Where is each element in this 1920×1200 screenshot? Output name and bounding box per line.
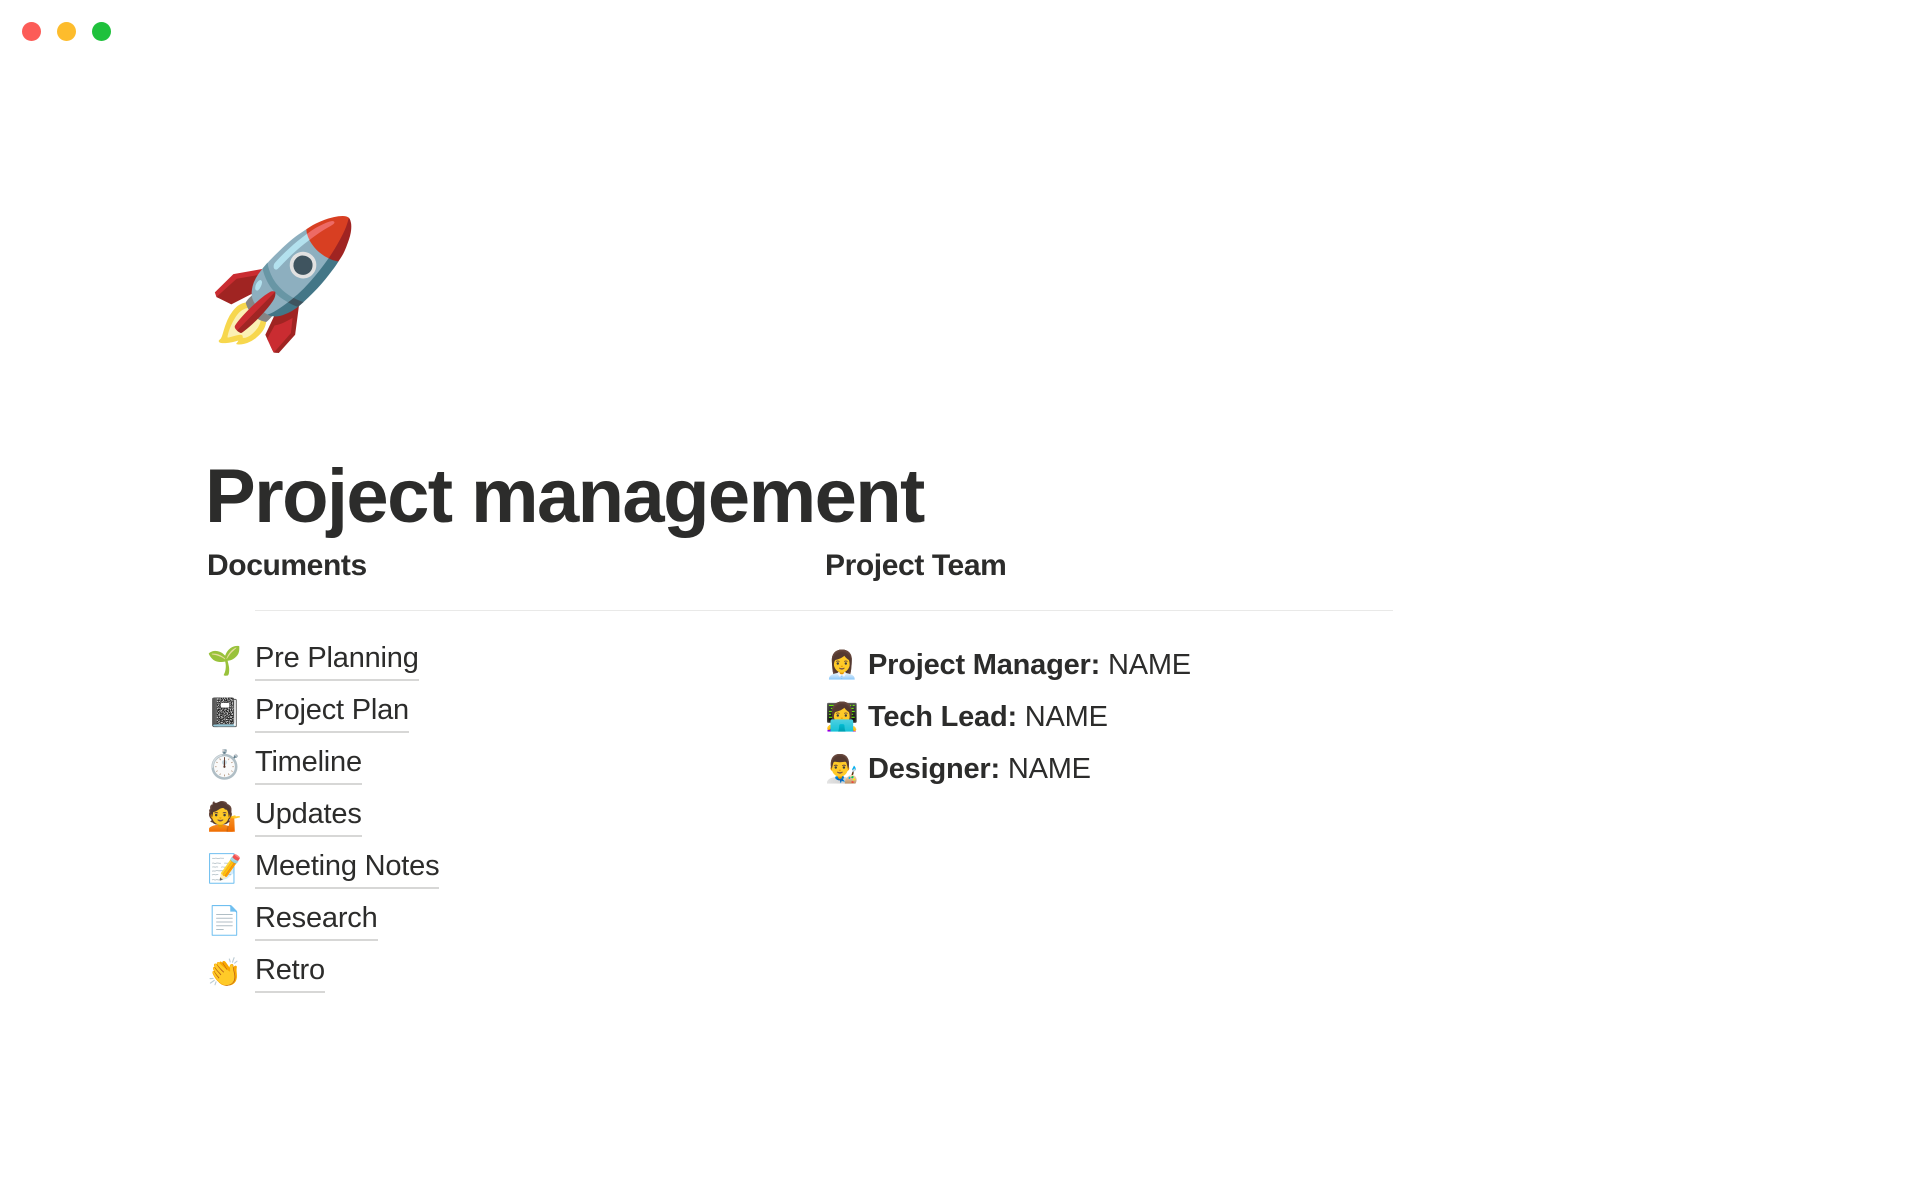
list-item[interactable]: 📄 Research bbox=[205, 895, 745, 947]
team-column: Project Team 👩‍💼 Project Manager: NAME 👩… bbox=[823, 548, 1393, 999]
content-columns: Documents 🌱 Pre Planning 📓 Project Plan … bbox=[205, 548, 1405, 999]
list-item: 👩‍💼 Project Manager: NAME bbox=[823, 639, 1393, 691]
list-item[interactable]: 💁 Updates bbox=[205, 791, 745, 843]
list-item[interactable]: 👏 Retro bbox=[205, 947, 745, 999]
document-page: 🚀 Project management Documents 🌱 Pre Pla… bbox=[0, 0, 1920, 1200]
seedling-icon: 🌱 bbox=[207, 647, 241, 675]
list-item: 👩‍💻 Tech Lead: NAME bbox=[823, 691, 1393, 743]
team-member-name: NAME bbox=[1025, 701, 1108, 733]
documents-column: Documents 🌱 Pre Planning 📓 Project Plan … bbox=[205, 548, 745, 999]
page-title[interactable]: Project management bbox=[205, 455, 924, 539]
document-link-meeting-notes[interactable]: Meeting Notes bbox=[255, 849, 439, 889]
document-link-updates[interactable]: Updates bbox=[255, 797, 362, 837]
man-artist-icon: 👨‍🎨 bbox=[825, 756, 857, 783]
list-item[interactable]: 📝 Meeting Notes bbox=[205, 843, 745, 895]
list-item[interactable]: 🌱 Pre Planning bbox=[205, 635, 745, 687]
rocket-icon[interactable]: 🚀 bbox=[206, 222, 360, 346]
documents-list: 🌱 Pre Planning 📓 Project Plan ⏱️ Timelin… bbox=[205, 611, 745, 999]
team-member-name: NAME bbox=[1108, 649, 1191, 681]
team-member-row: Tech Lead: NAME bbox=[868, 700, 1108, 735]
list-item: 👨‍🎨 Designer: NAME bbox=[823, 743, 1393, 795]
document-link-retro[interactable]: Retro bbox=[255, 953, 325, 993]
list-item[interactable]: 📓 Project Plan bbox=[205, 687, 745, 739]
notebook-icon: 📓 bbox=[207, 699, 241, 727]
team-role-label: Designer: bbox=[868, 753, 1000, 785]
page-facing-up-icon: 📄 bbox=[207, 907, 241, 935]
woman-office-worker-icon: 👩‍💼 bbox=[825, 652, 857, 679]
team-member-row: Project Manager: NAME bbox=[868, 648, 1191, 683]
clapping-hands-icon: 👏 bbox=[207, 959, 241, 987]
person-tipping-hand-icon: 💁 bbox=[207, 803, 241, 831]
document-link-project-plan[interactable]: Project Plan bbox=[255, 693, 409, 733]
team-list: 👩‍💼 Project Manager: NAME 👩‍💻 Tech Lead:… bbox=[823, 611, 1393, 795]
document-link-pre-planning[interactable]: Pre Planning bbox=[255, 641, 419, 681]
document-link-research[interactable]: Research bbox=[255, 901, 378, 941]
documents-heading: Documents bbox=[205, 548, 745, 584]
team-role-label: Tech Lead: bbox=[868, 701, 1017, 733]
team-member-name: NAME bbox=[1008, 753, 1091, 785]
team-role-label: Project Manager: bbox=[868, 649, 1100, 681]
woman-technologist-icon: 👩‍💻 bbox=[825, 704, 857, 731]
team-member-row: Designer: NAME bbox=[868, 752, 1091, 787]
stopwatch-icon: ⏱️ bbox=[207, 751, 241, 779]
team-heading: Project Team bbox=[823, 548, 1393, 584]
document-link-timeline[interactable]: Timeline bbox=[255, 745, 362, 785]
memo-icon: 📝 bbox=[207, 855, 241, 883]
list-item[interactable]: ⏱️ Timeline bbox=[205, 739, 745, 791]
